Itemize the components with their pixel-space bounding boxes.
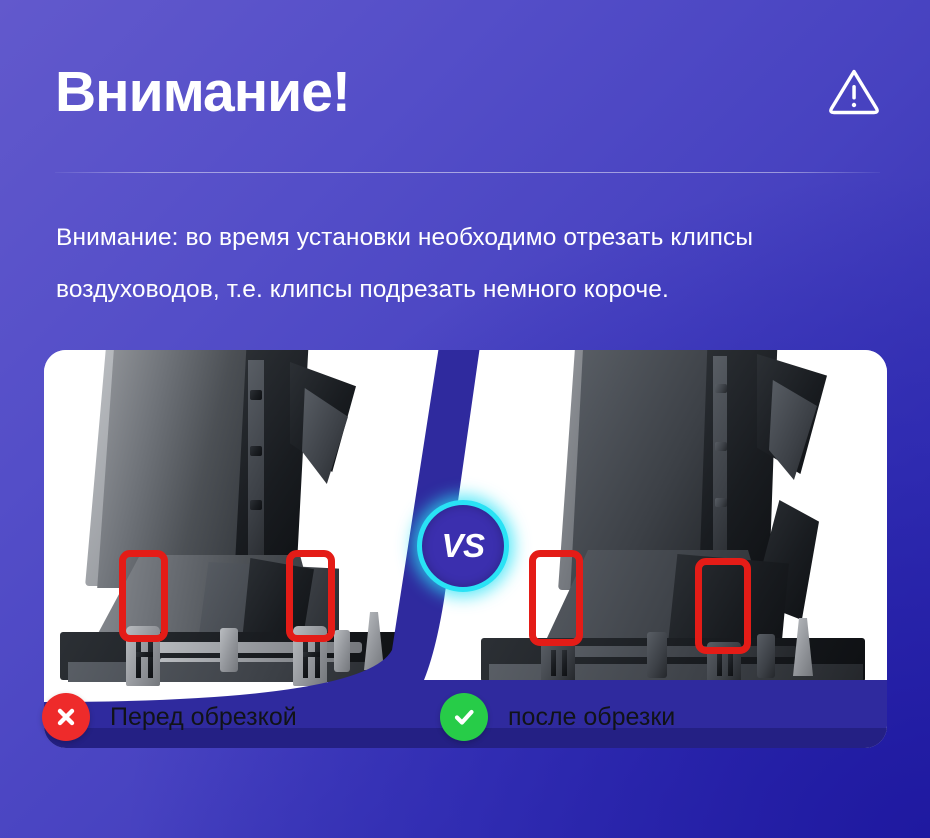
intro-paragraph: Внимание: во время установки необходимо … [56,212,896,316]
after-label: после обрезки [508,703,675,732]
page-title: Внимание! [55,64,350,121]
vs-label: VS [441,527,484,565]
before-footer: Перед обрезкой [42,688,297,746]
after-photo [457,350,887,690]
warning-triangle-icon [828,66,880,118]
before-label: Перед обрезкой [110,703,297,732]
header: Внимание! [55,52,880,132]
after-footer: после обрезки [440,688,675,746]
highlight-box-clip-right [286,550,335,642]
highlight-box-clip-left [119,550,168,642]
highlight-box-clip-left [529,550,583,646]
highlight-box-clip-right [695,558,751,654]
duct-illustration-after [457,350,887,690]
check-circle-icon [440,693,488,741]
cross-circle-icon [42,693,90,741]
before-photo [44,350,474,690]
warning-infographic-page: Внимание! Внимание: во время установки н… [0,0,930,838]
vs-badge: VS [417,500,509,592]
duct-illustration-before [44,350,474,690]
header-divider [55,172,880,173]
